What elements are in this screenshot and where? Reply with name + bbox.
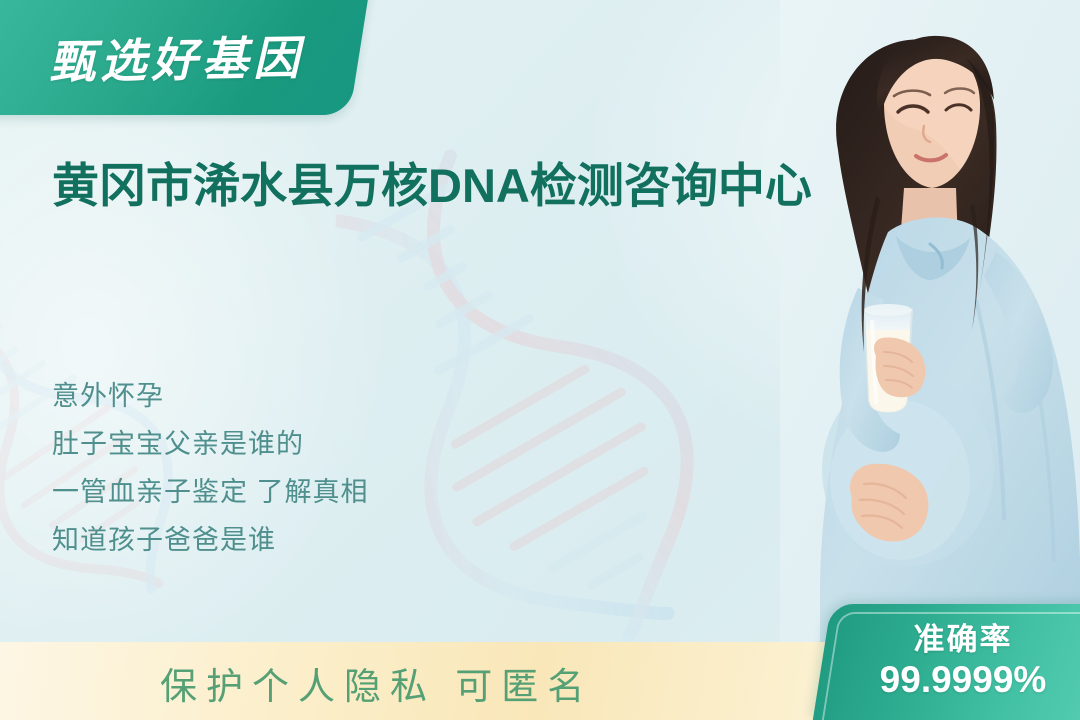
accuracy-label: 准确率 <box>914 623 1013 657</box>
promo-poster: 甄选好基因 黄冈市浠水县万核DNA检测咨询中心 意外怀孕 肚子宝宝父亲是谁的 一… <box>0 0 1080 720</box>
brand-logo-inner: 甄选好基因 <box>0 0 360 115</box>
brand-logo-banner[interactable]: 甄选好基因 <box>0 0 370 115</box>
marketing-copy-block: 意外怀孕 肚子宝宝父亲是谁的 一管血亲子鉴定 了解真相 知道孩子爸爸是谁 <box>52 372 369 564</box>
brand-logo-text: 甄选好基因 <box>48 21 304 91</box>
marketing-copy-line-2: 肚子宝宝父亲是谁的 <box>52 420 369 468</box>
privacy-tagline: 保护个人隐私 可匿名 <box>160 656 593 710</box>
pregnant-woman-photo <box>780 0 1080 660</box>
accuracy-value: 99.9999% <box>880 659 1047 702</box>
marketing-copy-line-3: 一管血亲子鉴定 了解真相 <box>52 468 369 516</box>
accuracy-badge-inner: 准确率 99.9999% <box>822 604 1080 720</box>
accuracy-badge: 准确率 99.9999% <box>813 604 1080 720</box>
marketing-copy-line-4: 知道孩子爸爸是谁 <box>52 516 369 564</box>
page-title: 黄冈市浠水县万核DNA检测咨询中心 <box>52 156 822 216</box>
marketing-copy-line-1: 意外怀孕 <box>52 372 369 420</box>
